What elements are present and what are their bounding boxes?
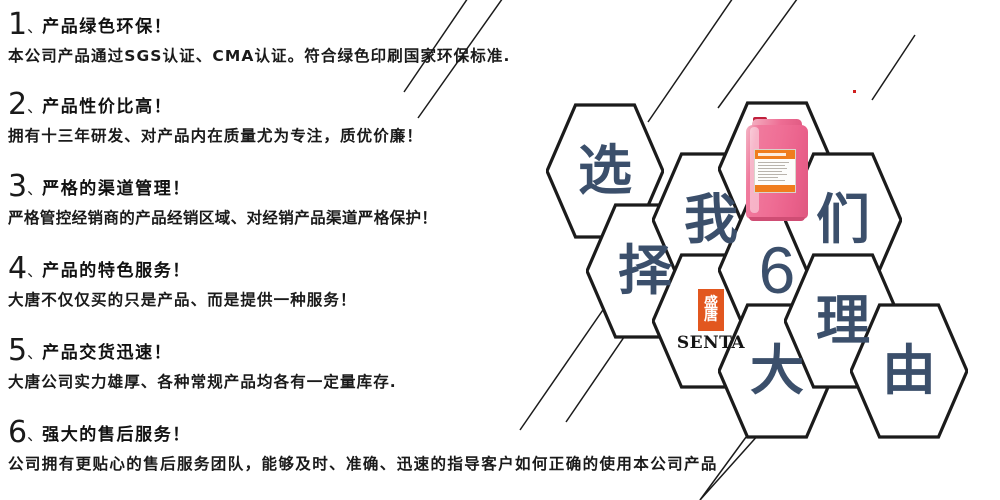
- benefit-title: 产品绿色环保！: [42, 17, 172, 37]
- benefit-item-3: 3、严格的渠道管理！ 严格管控经销商的产品经销区域、对经销产品渠道严格保护！: [8, 172, 648, 227]
- label-header-band: [755, 150, 795, 159]
- benefit-title: 产品交货迅速！: [42, 343, 172, 363]
- benefit-number: 3: [8, 169, 27, 204]
- hex-label: 6: [759, 237, 796, 303]
- benefit-number: 1: [8, 7, 27, 42]
- benefit-heading: 5、产品交货迅速！: [8, 336, 648, 366]
- benefit-title: 严格的渠道管理！: [42, 179, 191, 199]
- product-jerry-can-image: [742, 117, 812, 221]
- benefit-heading: 2、产品性价比高！: [8, 90, 648, 120]
- logo-wordmark: SENTA: [677, 333, 745, 353]
- benefit-separator: 、: [27, 426, 42, 444]
- benefit-heading: 1、产品绿色环保！: [8, 10, 648, 40]
- benefit-separator: 、: [27, 344, 42, 362]
- hex-label: 理: [816, 294, 870, 348]
- benefit-item-1: 1、产品绿色环保！ 本公司产品通过SGS认证、CMA认证。符合绿色印刷国家环保标…: [8, 10, 648, 65]
- benefit-title: 产品性价比高！: [42, 97, 172, 117]
- benefit-body: 大唐不仅仅买的只是产品、而是提供一种服务！: [8, 293, 648, 309]
- benefit-heading: 4、产品的特色服务！: [8, 254, 648, 284]
- benefit-item-4: 4、产品的特色服务！ 大唐不仅仅买的只是产品、而是提供一种服务！: [8, 254, 648, 309]
- benefits-list: 1、产品绿色环保！ 本公司产品通过SGS认证、CMA认证。符合绿色印刷国家环保标…: [8, 0, 648, 500]
- poster-canvas: 1、产品绿色环保！ 本公司产品通过SGS认证、CMA认证。符合绿色印刷国家环保标…: [0, 0, 1000, 500]
- benefit-title: 强大的售后服务！: [42, 425, 191, 445]
- benefit-number: 6: [8, 415, 27, 450]
- brand-logo: 盛 唐 SENTA: [677, 289, 745, 353]
- benefit-item-2: 2、产品性价比高！ 拥有十三年研发、对产品内在质量尤为专注，质优价廉！: [8, 90, 648, 145]
- label-footer-band: [755, 185, 795, 192]
- benefit-heading: 6、强大的售后服务！: [8, 418, 648, 448]
- benefit-separator: 、: [27, 180, 42, 198]
- benefit-body: 大唐公司实力雄厚、各种常规产品均各有一定量库存.: [8, 375, 648, 391]
- stray-red-dot: [853, 90, 856, 93]
- benefit-number: 4: [8, 251, 27, 286]
- benefit-body: 拥有十三年研发、对产品内在质量尤为专注，质优价廉！: [8, 129, 648, 145]
- logo-stamp-char-bottom: 唐: [704, 310, 718, 323]
- benefit-body: 严格管控经销商的产品经销区域、对经销产品渠道严格保护！: [8, 211, 648, 227]
- benefit-title: 产品的特色服务！: [42, 261, 191, 281]
- hex-label: 我: [684, 193, 738, 247]
- benefit-separator: 、: [27, 262, 42, 280]
- benefit-heading: 3、严格的渠道管理！: [8, 172, 648, 202]
- logo-stamp-icon: 盛 唐: [698, 289, 724, 331]
- benefit-item-6: 6、强大的售后服务！ 公司拥有更贴心的售后服务团队，能够及时、准确、迅速的指导客…: [8, 418, 648, 473]
- benefit-number: 5: [8, 333, 27, 368]
- benefit-item-5: 5、产品交货迅速！ 大唐公司实力雄厚、各种常规产品均各有一定量库存.: [8, 336, 648, 391]
- product-label: [754, 149, 796, 193]
- benefit-number: 2: [8, 87, 27, 122]
- benefit-separator: 、: [27, 18, 42, 36]
- benefit-body: 本公司产品通过SGS认证、CMA认证。符合绿色印刷国家环保标准.: [8, 49, 648, 65]
- hex-label: 大: [750, 344, 804, 398]
- benefit-separator: 、: [27, 98, 42, 116]
- can-base: [749, 217, 805, 221]
- hex-label: 们: [816, 193, 870, 247]
- hex-label: 由: [882, 344, 936, 398]
- benefit-body: 公司拥有更贴心的售后服务团队，能够及时、准确、迅速的指导客户如何正确的使用本公司…: [8, 457, 648, 473]
- label-text-lines: [755, 159, 795, 186]
